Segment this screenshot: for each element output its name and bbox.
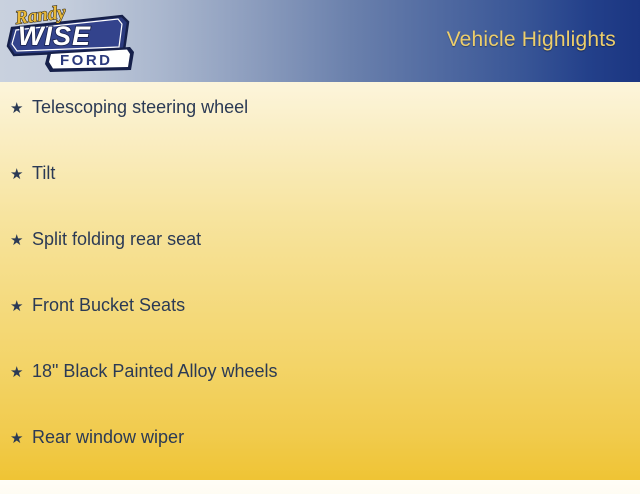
list-item: ★ Front Bucket Seats xyxy=(0,296,640,362)
star-icon: ★ xyxy=(10,233,32,248)
list-item: ★ Split folding rear seat xyxy=(0,230,640,296)
logo-graphic: WISE FORD Randy xyxy=(4,2,140,78)
list-item-label: Tilt xyxy=(32,164,55,182)
star-icon: ★ xyxy=(10,299,32,314)
star-icon: ★ xyxy=(10,101,32,116)
star-icon: ★ xyxy=(10,431,32,446)
page-header: WISE FORD Randy Vehicle Highlights xyxy=(0,0,640,82)
vehicle-highlights-list: ★ Telescoping steering wheel ★ Tilt ★ Sp… xyxy=(0,82,640,494)
list-item: ★ Tilt xyxy=(0,164,640,230)
list-item-label: Rear window wiper xyxy=(32,428,184,446)
logo-ford-text: FORD xyxy=(60,52,113,69)
list-item-label: 18" Black Painted Alloy wheels xyxy=(32,362,278,380)
list-item: ★ 18" Black Painted Alloy wheels xyxy=(0,362,640,428)
list-item-label: Front Bucket Seats xyxy=(32,296,185,314)
star-icon: ★ xyxy=(10,365,32,380)
list-item: ★ Rear window wiper xyxy=(0,428,640,494)
randy-wise-ford-logo[interactable]: WISE FORD Randy xyxy=(4,2,140,78)
list-item-label: Telescoping steering wheel xyxy=(32,98,248,116)
list-item-label: Split folding rear seat xyxy=(32,230,201,248)
list-item: ★ Telescoping steering wheel xyxy=(0,98,640,164)
star-icon: ★ xyxy=(10,167,32,182)
page-title: Vehicle Highlights xyxy=(447,28,616,52)
